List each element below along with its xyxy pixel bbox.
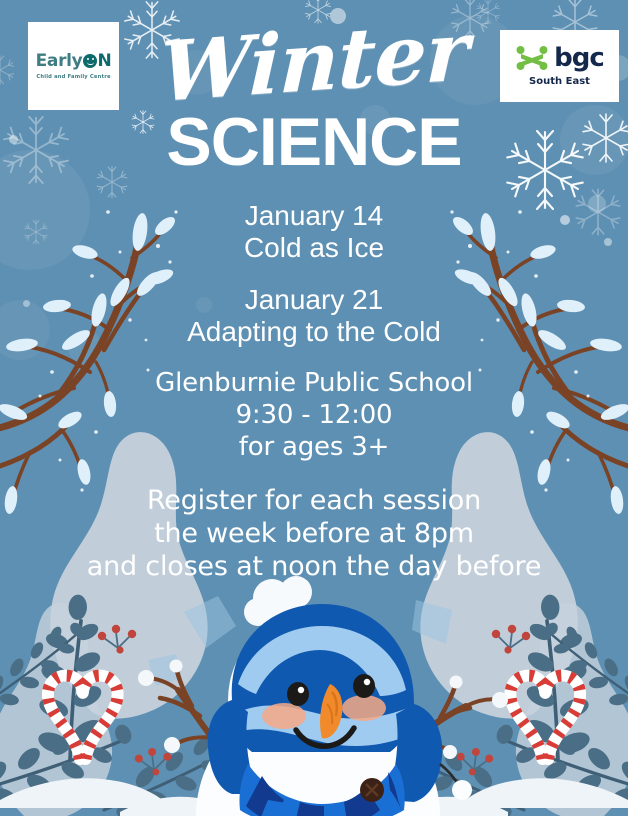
venue-details: Glenburnie Public School 9:30 - 12:00 fo… [0, 368, 628, 464]
cheek-right [342, 695, 386, 721]
twig-arms [146, 666, 500, 768]
poster-canvas: Early N Child and Family Centre bgc S [0, 0, 628, 816]
bgc-subtitle: South East [529, 76, 590, 87]
snowman-hat [208, 576, 472, 802]
eye-left [287, 682, 309, 706]
registration-details: Register for each session the week befor… [0, 484, 628, 584]
smile [296, 728, 354, 746]
venue-location: Glenburnie Public School [0, 368, 628, 400]
earlyon-word-n: N [97, 53, 111, 70]
session-2-topic: Adapting to the Cold [0, 316, 628, 348]
earlyon-word-early: Early [36, 53, 83, 70]
bgc-people-mark-icon [515, 45, 549, 71]
snowman-scarf [239, 764, 404, 816]
ice-shards [148, 596, 452, 686]
session-2: January 21 Adapting to the Cold [0, 284, 628, 348]
registration-line-2: the week before at 8pm [0, 517, 628, 550]
earlyon-subtitle: Child and Family Centre [36, 74, 110, 80]
session-1-topic: Cold as Ice [0, 232, 628, 264]
cheek-left [262, 703, 306, 729]
carrot-nose [320, 684, 342, 738]
earlyon-logo: Early N Child and Family Centre [28, 22, 119, 110]
venue-time: 9:30 - 12:00 [0, 400, 628, 432]
eye-right [353, 674, 375, 698]
earlyon-smiley-icon [83, 54, 97, 68]
candy-cane-heart-left [48, 676, 118, 759]
snowman-face [262, 674, 386, 746]
registration-line-3: and closes at noon the day before [0, 550, 628, 583]
session-2-date: January 21 [0, 284, 628, 316]
bgc-word: bgc [554, 45, 604, 71]
bgc-logo: bgc South East [500, 30, 619, 102]
snowman-body [196, 696, 440, 816]
session-1-date: January 14 [0, 200, 628, 232]
twig-snow [138, 660, 508, 760]
registration-line-1: Register for each session [0, 484, 628, 517]
candy-cane-heart-right [510, 676, 580, 759]
earlyon-wordmark: Early N [36, 53, 112, 70]
snowman-buttons [360, 778, 384, 802]
body-text-block: January 14 Cold as Ice January 21 Adapti… [0, 200, 628, 603]
snowman-head [228, 610, 408, 790]
session-1: January 14 Cold as Ice [0, 200, 628, 264]
venue-ages: for ages 3+ [0, 432, 628, 464]
bgc-wordmark: bgc [515, 45, 604, 71]
main-title: SCIENCE [0, 108, 628, 176]
